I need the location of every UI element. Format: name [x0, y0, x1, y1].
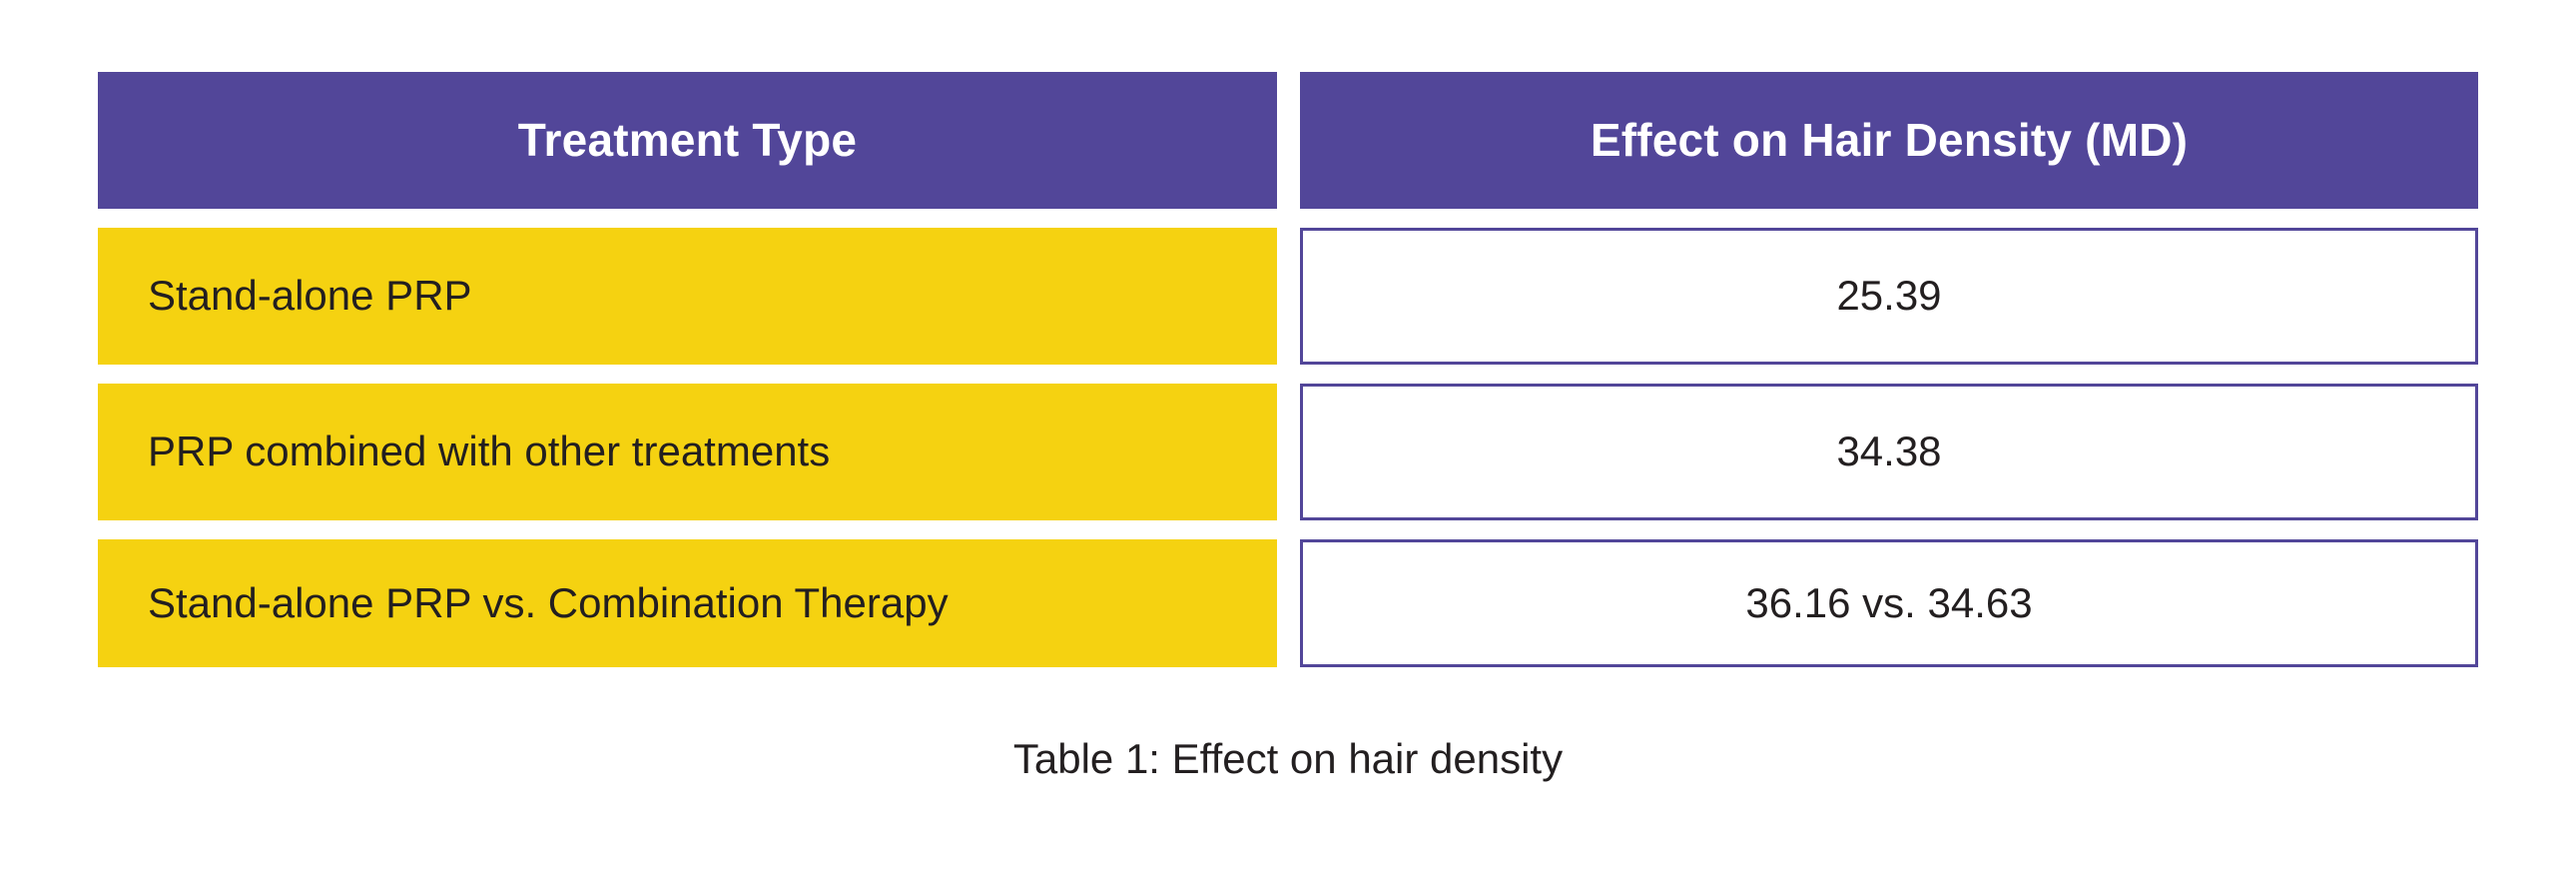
treatment-label-cell: Stand-alone PRP vs. Combination Therapy: [98, 539, 1277, 667]
table-caption-text: Table 1: Effect on hair density: [1013, 735, 1563, 782]
table-row: PRP combined with other treatments 34.38: [98, 384, 2478, 520]
effect-value-cell: 34.38: [1300, 384, 2478, 520]
treatment-label: PRP combined with other treatments: [148, 428, 830, 475]
treatment-label: Stand-alone PRP vs. Combination Therapy: [148, 579, 949, 627]
table-figure: Treatment Type Effect on Hair Density (M…: [0, 0, 2576, 869]
column-header-label: Treatment Type: [518, 115, 857, 166]
treatment-label-cell: Stand-alone PRP: [98, 228, 1277, 365]
effect-value: 34.38: [1836, 428, 1941, 475]
treatment-label: Stand-alone PRP: [148, 272, 472, 320]
effect-value-cell: 36.16 vs. 34.63: [1300, 539, 2478, 667]
treatment-label-cell: PRP combined with other treatments: [98, 384, 1277, 520]
column-header-treatment-type: Treatment Type: [98, 72, 1277, 209]
column-header-label: Effect on Hair Density (MD): [1591, 115, 2188, 166]
data-table: Treatment Type Effect on Hair Density (M…: [98, 72, 2478, 667]
effect-value: 36.16 vs. 34.63: [1745, 579, 2032, 627]
table-row: Stand-alone PRP 25.39: [98, 228, 2478, 365]
table-header-row: Treatment Type Effect on Hair Density (M…: [98, 72, 2478, 209]
table-caption: Table 1: Effect on hair density: [0, 734, 2576, 784]
table-row: Stand-alone PRP vs. Combination Therapy …: [98, 539, 2478, 667]
effect-value: 25.39: [1836, 272, 1941, 320]
effect-value-cell: 25.39: [1300, 228, 2478, 365]
column-header-effect-on-hair-density: Effect on Hair Density (MD): [1300, 72, 2478, 209]
